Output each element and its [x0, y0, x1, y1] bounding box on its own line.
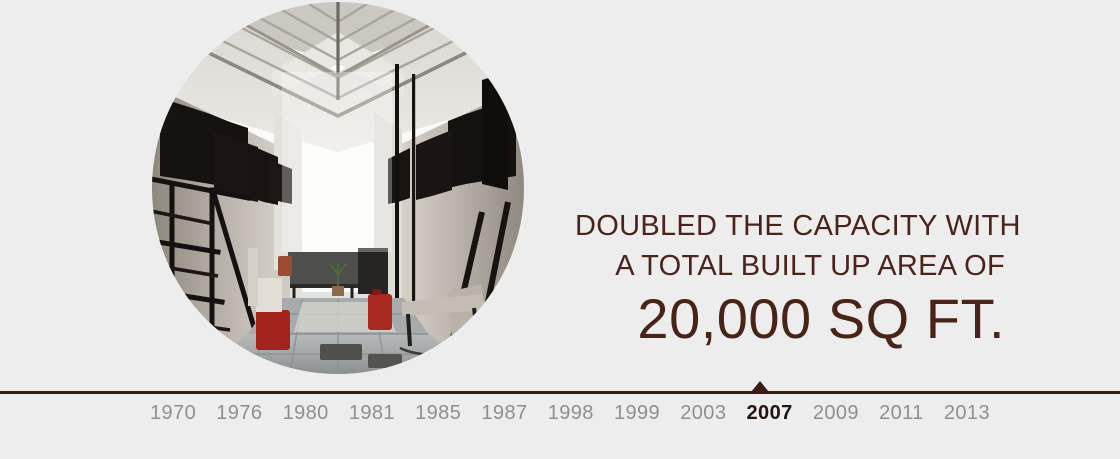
timeline-year[interactable]: 1970 — [150, 402, 196, 425]
triangle-up-icon — [751, 381, 769, 392]
timeline-year[interactable]: 1985 — [415, 402, 461, 425]
timeline-year[interactable]: 2003 — [680, 402, 726, 425]
timeline-year[interactable]: 1976 — [216, 402, 262, 425]
headline-line-1: DOUBLED THE CAPACITY WITH — [575, 206, 1005, 246]
milestone-photo — [152, 2, 524, 374]
headline-block: DOUBLED THE CAPACITY WITH A TOTAL BUILT … — [575, 206, 1005, 350]
timeline-year[interactable]: 1980 — [283, 402, 329, 425]
timeline-year[interactable]: 2011 — [879, 402, 924, 425]
timeline-year[interactable]: 1987 — [481, 402, 527, 425]
timeline: 1970 1976 1980 1981 1985 1987 1998 1999 … — [0, 388, 1120, 459]
warehouse-interior-illustration — [152, 2, 524, 374]
timeline-rule — [0, 391, 1120, 394]
timeline-year[interactable]: 2009 — [813, 402, 859, 425]
timeline-year[interactable]: 1999 — [614, 402, 660, 425]
timeline-year-active[interactable]: 2007 — [747, 402, 793, 425]
headline-highlight: 20,000 SQ FT. — [575, 288, 1005, 350]
timeline-year[interactable]: 2013 — [944, 402, 990, 425]
milestone-slide: DOUBLED THE CAPACITY WITH A TOTAL BUILT … — [0, 0, 1120, 459]
timeline-year[interactable]: 1998 — [548, 402, 594, 425]
timeline-year-list: 1970 1976 1980 1981 1985 1987 1998 1999 … — [150, 402, 990, 425]
timeline-year[interactable]: 1981 — [349, 402, 395, 425]
headline-line-2: A TOTAL BUILT UP AREA OF — [575, 246, 1005, 286]
